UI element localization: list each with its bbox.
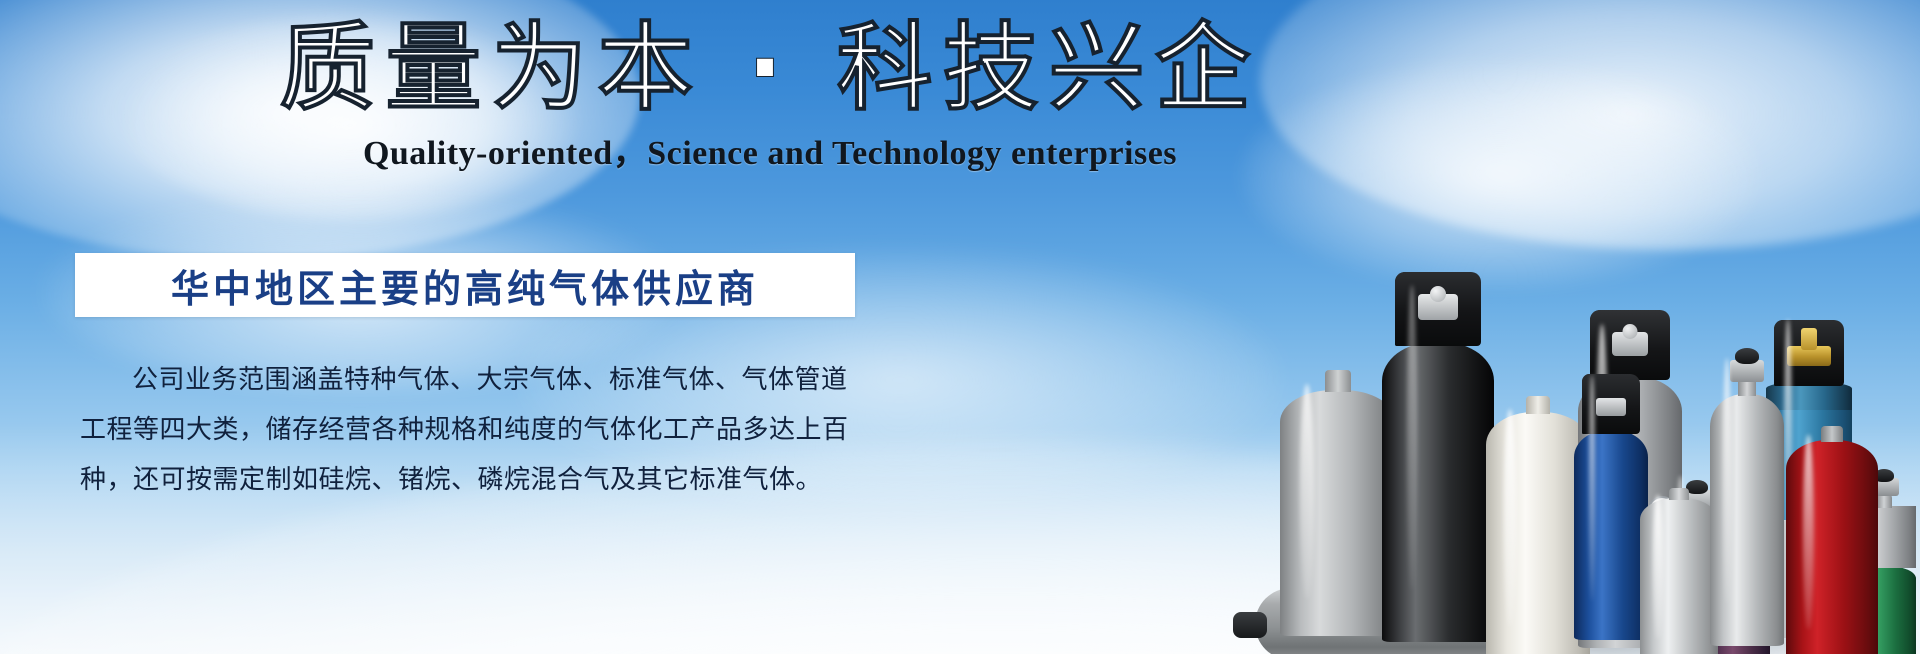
paragraph-line-2: 工程等四大类，储存经营各种规格和纯度的气体化工产品多达上百 (80, 405, 870, 455)
slogan-text: 华中地区主要的高纯气体供应商 (171, 258, 759, 313)
cylinder-blue-dark (1574, 364, 1648, 640)
cylinder-black-tall (1382, 270, 1494, 642)
paragraph-line-1: 公司业务范围涵盖特种气体、大宗气体、标准气体、气体管道 (80, 355, 870, 405)
promotional-banner: 质量为本 · 科技兴企 Quality-oriented，Science and… (0, 0, 1920, 654)
page-title: 质量为本 · 科技兴企 (0, 18, 1540, 119)
cylinder-red-large (1786, 426, 1878, 654)
slogan-box: 华中地区主要的高纯气体供应商 (75, 253, 855, 317)
headline-block: 质量为本 · 科技兴企 Quality-oriented，Science and… (0, 18, 1540, 174)
description-paragraph: 公司业务范围涵盖特种气体、大宗气体、标准气体、气体管道 工程等四大类，储存经营各… (80, 355, 870, 505)
cylinder-grey-tall-left (1280, 374, 1396, 636)
cylinder-aluminium-2 (1710, 346, 1784, 646)
paragraph-line-3: 种，还可按需定制如硅烷、锗烷、磷烷混合气及其它标准气体。 (80, 455, 870, 505)
compressed-gas-cylinder-lineup-right (1560, 234, 1920, 654)
page-subtitle: Quality-oriented，Science and Technology … (0, 125, 1540, 174)
cylinder-aluminium-1 (1640, 488, 1718, 654)
